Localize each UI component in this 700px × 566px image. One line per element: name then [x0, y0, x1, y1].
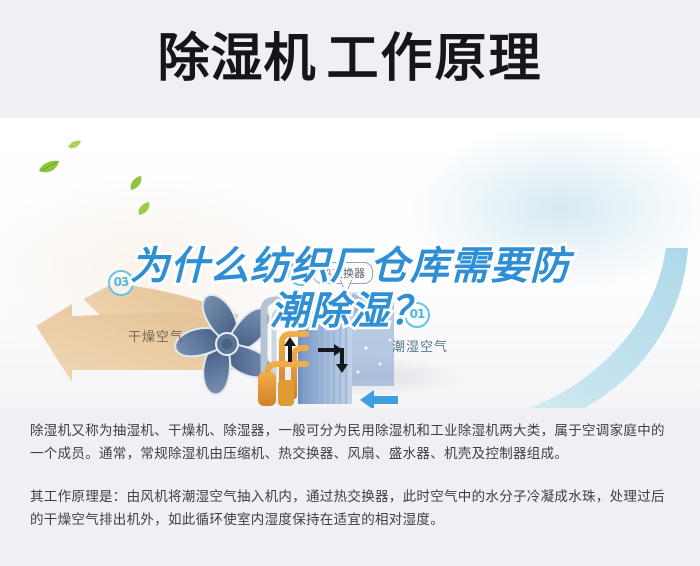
label-humid-air: 潮湿空气 [392, 336, 448, 355]
diagram-badge-03: 03 [108, 270, 134, 296]
leaf-icon [128, 176, 144, 190]
page-title: 除湿机工作原理 [0, 28, 700, 90]
heat-exchanger-assembly-icon [248, 276, 398, 408]
body-paragraph-1: 除湿机又称为抽湿机、干燥机、除湿器，一般可分为民用除湿机和工业除湿机两大类，属于… [30, 420, 678, 466]
callout-tail-icon [339, 279, 353, 295]
diagram-badge-01: 01 [404, 302, 430, 328]
leaf-icon [68, 140, 81, 150]
leaf-icon [38, 160, 60, 175]
body-paragraph-2: 其工作原理是：由风机将潮湿空气抽入机内，通过热交换器，此时空气中的水分子冷凝成水… [30, 486, 678, 532]
label-dry-air: 干燥空气 [128, 326, 184, 345]
body-copy: 除湿机又称为抽湿机、干燥机、除湿器，一般可分为民用除湿机和工业除湿机两大类，属于… [30, 420, 678, 540]
infographic-page: 除湿机工作原理 [0, 0, 700, 566]
humid-air-flow-icon [392, 246, 692, 408]
page-title-part1: 除湿机 [157, 29, 316, 89]
page-title-part2: 工作原理 [327, 29, 543, 89]
diagram-stage: 03 02 01 热交换器 干燥空气 潮湿空气 水箱 01 潮湿空气由下部进风口… [0, 118, 700, 408]
diagram-badge-02: 02 [288, 260, 314, 286]
leaf-icon [137, 202, 151, 215]
